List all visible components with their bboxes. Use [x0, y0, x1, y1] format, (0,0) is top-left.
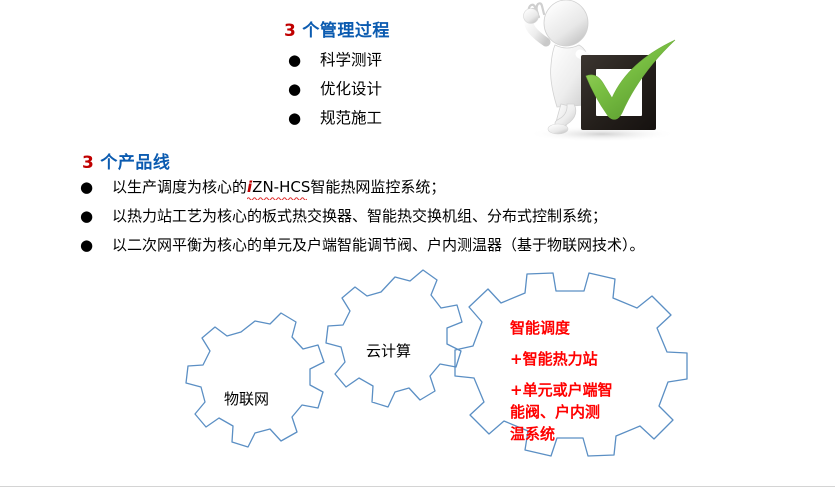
figure-foot — [548, 124, 568, 134]
gear-diagram: 物联网 云计算 智能调度 +智能热力站 +单元或户端智 能阀、户内测 温系统 — [0, 255, 835, 495]
bullet-marker: ● — [80, 238, 94, 253]
bullet-marker: ● — [288, 82, 302, 97]
bullet-marker: ● — [288, 111, 302, 126]
list-item: ● 以热力站工艺为核心的板式热交换器、智能热交换机组、分布式控制系统； — [80, 205, 607, 226]
gear-cloud-shape — [326, 270, 462, 407]
list-item-label: 规范施工 — [320, 106, 382, 128]
bottom-divider — [0, 486, 835, 487]
list-item-label: 优化设计 — [320, 77, 382, 99]
list-item: ● 以生产调度为核心的iZN-HCS智能热网监控系统； — [80, 176, 445, 197]
product-code-suffix: ZN-HCS智能热网监控系统； — [252, 178, 445, 196]
heading-number-product: 3 — [82, 153, 94, 173]
gear-scheduling-line-2: +智能热力站 — [510, 348, 613, 370]
spellcheck-squiggle-icon — [247, 196, 307, 200]
gear-scheduling-line-1: 智能调度 — [510, 317, 613, 339]
heading-text-product: 个产品线 — [100, 153, 170, 173]
heading-text-management: 个管理过程 — [302, 21, 390, 41]
figure-checkbox-illustration — [500, 0, 700, 145]
figure-hand — [524, 9, 539, 24]
list-item-label: 以二次网平衡为核心的单元及户端智能调节阀、户内测温器（基于物联网技术）。 — [112, 234, 645, 255]
list-item: ● 规范施工 — [288, 106, 382, 128]
misspelled-token: iZN-HCS智能热网监控系统； — [247, 176, 445, 197]
heading-number-management: 3 — [284, 21, 296, 41]
bullet-marker: ● — [80, 180, 94, 195]
slide-canvas: 3个管理过程 ● 科学测评 ● 优化设计 ● 规范施工 3个产品线 ● 以生产调… — [0, 0, 835, 495]
gear-iot-shape — [186, 313, 324, 447]
gear-scheduling-line-5: 温系统 — [510, 423, 613, 445]
bullet-marker: ● — [80, 209, 94, 224]
list-item: ● 优化设计 — [288, 77, 382, 99]
figure-head — [544, 0, 588, 46]
heading-product-lines: 3个产品线 — [82, 148, 170, 173]
list-item: ● 以二次网平衡为核心的单元及户端智能调节阀、户内测温器（基于物联网技术）。 — [80, 234, 645, 255]
product-line-prefix: 以生产调度为核心的 — [112, 178, 247, 196]
list-item-label: 以生产调度为核心的iZN-HCS智能热网监控系统； — [112, 176, 445, 197]
list-item-label: 以热力站工艺为核心的板式热交换器、智能热交换机组、分布式控制系统； — [112, 205, 607, 226]
gear-cloud-label: 云计算 — [366, 340, 411, 361]
gear-scheduling-label: 智能调度 +智能热力站 +单元或户端智 能阀、户内测 温系统 — [510, 317, 613, 445]
gear-scheduling-line-3: +单元或户端智 — [510, 379, 613, 401]
list-item-label: 科学测评 — [320, 48, 382, 70]
bullet-marker: ● — [288, 53, 302, 68]
heading-management-process: 3个管理过程 — [284, 16, 390, 41]
list-item: ● 科学测评 — [288, 48, 382, 70]
gear-scheduling-line-4: 能阀、户内测 — [510, 401, 613, 423]
gear-iot-label: 物联网 — [224, 388, 269, 409]
